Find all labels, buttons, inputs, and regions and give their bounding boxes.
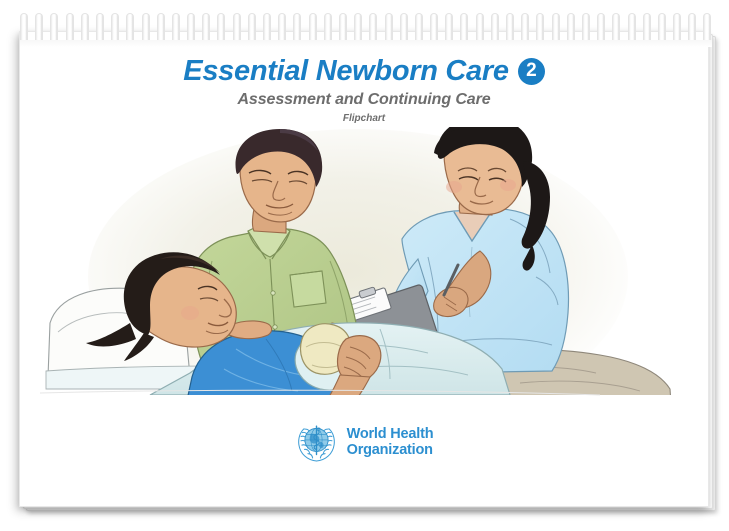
- newborn-care-illustration: [40, 127, 690, 417]
- title-block: Essential Newborn Care 2 Assessment and …: [20, 56, 708, 124]
- flipchart-cover-stage: Essential Newborn Care 2 Assessment and …: [0, 0, 729, 531]
- who-wordmark-line1: World Health: [347, 427, 434, 442]
- who-logo: World Health Organization: [20, 421, 708, 464]
- who-wordmark: World Health Organization: [347, 427, 434, 457]
- page-subtitle: Assessment and Continuing Care: [20, 91, 708, 109]
- who-wordmark-line2: Organization: [347, 443, 434, 458]
- page-title-text: Essential Newborn Care: [183, 56, 508, 86]
- page-subtitle-secondary: Flipchart: [20, 113, 708, 124]
- who-emblem: [295, 421, 338, 464]
- page-title: Essential Newborn Care 2: [183, 56, 544, 86]
- cover-page: Essential Newborn Care 2 Assessment and …: [19, 31, 709, 507]
- volume-badge: 2: [518, 58, 545, 85]
